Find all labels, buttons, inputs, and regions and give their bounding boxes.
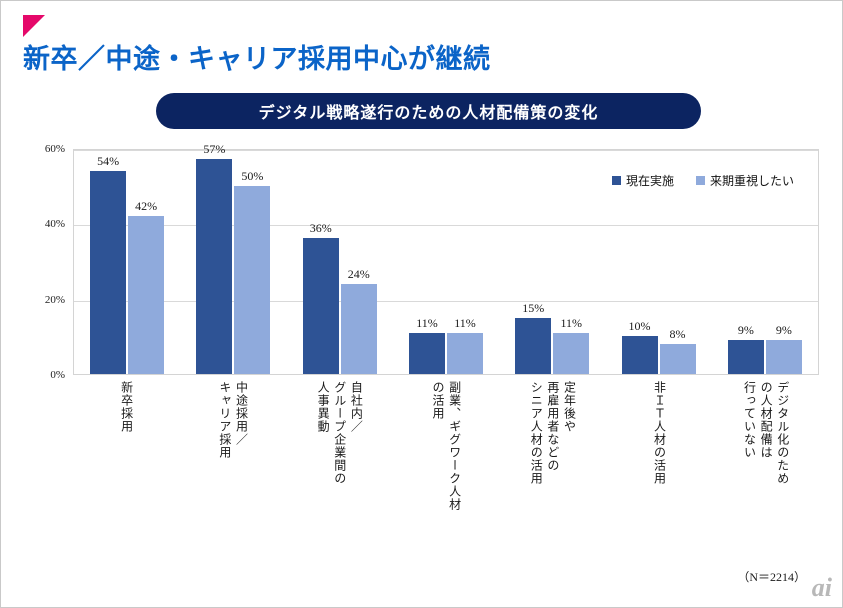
x-axis-label-column: 新卒採用 bbox=[119, 381, 134, 587]
bar[interactable]: 36% bbox=[303, 238, 339, 374]
x-axis-label-group: 自社内／グループ企業間の人事異動 bbox=[286, 377, 393, 587]
x-axis-label-column: 非ＩＴ人材の活用 bbox=[652, 381, 667, 587]
bar-value-label: 15% bbox=[522, 301, 544, 316]
bar[interactable]: 9% bbox=[766, 340, 802, 374]
bar-group: 57%50% bbox=[180, 150, 286, 374]
bar-value-label: 9% bbox=[776, 323, 792, 338]
bar-value-label: 36% bbox=[310, 221, 332, 236]
x-axis-label-column: グループ企業間の bbox=[332, 381, 347, 587]
bar-group: 36%24% bbox=[287, 150, 393, 374]
y-axis-tick: 40% bbox=[45, 218, 65, 230]
legend: 現在実施来期重視したい bbox=[612, 172, 794, 189]
x-axis-label-group: 非ＩＴ人材の活用 bbox=[606, 377, 713, 587]
x-axis-label-column: 人事異動 bbox=[316, 381, 331, 587]
bar-fill bbox=[766, 340, 802, 374]
legend-item: 来期重視したい bbox=[696, 172, 794, 189]
bar-fill bbox=[622, 336, 658, 374]
plot-wrapper: 0%20%40%60% 現在実施来期重視したい 54%42%57%50%36%2… bbox=[29, 149, 819, 375]
legend-label: 来期重視したい bbox=[710, 172, 794, 189]
bar-value-label: 10% bbox=[629, 319, 651, 334]
bar-fill bbox=[660, 344, 696, 374]
bar-fill bbox=[234, 186, 270, 374]
legend-item: 現在実施 bbox=[612, 172, 674, 189]
bar-fill bbox=[196, 159, 232, 374]
legend-label: 現在実施 bbox=[626, 172, 674, 189]
bar-fill bbox=[90, 171, 126, 374]
x-axis-label-group: 新卒採用 bbox=[73, 377, 180, 587]
y-axis-tick: 20% bbox=[45, 294, 65, 306]
bar-value-label: 9% bbox=[738, 323, 754, 338]
bar-fill bbox=[553, 333, 589, 374]
bar-fill bbox=[728, 340, 764, 374]
bar-fill bbox=[303, 238, 339, 374]
bar-fill bbox=[515, 318, 551, 375]
x-axis-label-column: の人材配備は bbox=[758, 381, 773, 587]
ai-logo: ai bbox=[812, 575, 832, 601]
chart: 0%20%40%60% 現在実施来期重視したい 54%42%57%50%36%2… bbox=[29, 149, 819, 589]
bar-value-label: 54% bbox=[97, 154, 119, 169]
x-axis-label-group: 定年後や再雇用者などのシニア人材の活用 bbox=[499, 377, 606, 587]
legend-swatch-icon bbox=[696, 176, 705, 185]
y-axis-tick: 60% bbox=[45, 143, 65, 155]
bar-fill bbox=[128, 216, 164, 374]
x-axis-label-column: キャリア採用 bbox=[217, 381, 232, 587]
bar-value-label: 11% bbox=[454, 316, 476, 331]
x-axis-label-column: 中途採用／ bbox=[234, 381, 249, 587]
bar-value-label: 11% bbox=[416, 316, 438, 331]
bar[interactable]: 50% bbox=[234, 186, 270, 374]
x-axis-label-group: 副業、ギグワーク人材の活用 bbox=[393, 377, 500, 587]
bar-group: 54%42% bbox=[74, 150, 180, 374]
x-axis-label-column: 行っていない bbox=[742, 381, 757, 587]
y-axis: 0%20%40%60% bbox=[29, 149, 69, 375]
bar[interactable]: 9% bbox=[728, 340, 764, 374]
bar[interactable]: 57% bbox=[196, 159, 232, 374]
bar[interactable]: 10% bbox=[622, 336, 658, 374]
bar-fill bbox=[341, 284, 377, 374]
corner-marker-icon bbox=[23, 15, 45, 37]
bar-value-label: 42% bbox=[135, 199, 157, 214]
bar[interactable]: 42% bbox=[128, 216, 164, 374]
bar-fill bbox=[409, 333, 445, 374]
x-axis-label-column: シニア人材の活用 bbox=[529, 381, 544, 587]
bar-value-label: 57% bbox=[203, 142, 225, 157]
bar[interactable]: 11% bbox=[409, 333, 445, 374]
bar[interactable]: 11% bbox=[447, 333, 483, 374]
x-axis-label-group: 中途採用／キャリア採用 bbox=[180, 377, 287, 587]
chart-banner-title: デジタル戦略遂行のための人材配備策の変化 bbox=[156, 93, 701, 129]
bar-value-label: 24% bbox=[348, 267, 370, 282]
sample-size-note: （N＝2214） bbox=[737, 568, 806, 585]
x-axis-labels: 新卒採用中途採用／キャリア採用自社内／グループ企業間の人事異動副業、ギグワーク人… bbox=[73, 377, 819, 587]
x-axis-label-column: 再雇用者などの bbox=[545, 381, 560, 587]
bar-value-label: 8% bbox=[670, 327, 686, 342]
bar-value-label: 11% bbox=[560, 316, 582, 331]
bar-group: 11%11% bbox=[393, 150, 499, 374]
bar[interactable]: 11% bbox=[553, 333, 589, 374]
slide: 新卒／中途・キャリア採用中心が継続 デジタル戦略遂行のための人材配備策の変化 0… bbox=[0, 0, 843, 608]
x-axis-label-column: 定年後や bbox=[562, 381, 577, 587]
x-axis-label-column: デジタル化のため bbox=[775, 381, 790, 587]
bar-fill bbox=[447, 333, 483, 374]
x-axis-label-column: 自社内／ bbox=[349, 381, 364, 587]
bar[interactable]: 15% bbox=[515, 318, 551, 375]
legend-swatch-icon bbox=[612, 176, 621, 185]
x-axis-label-group: デジタル化のための人材配備は行っていない bbox=[712, 377, 819, 587]
bar-value-label: 50% bbox=[241, 169, 263, 184]
bar[interactable]: 54% bbox=[90, 171, 126, 374]
y-axis-tick: 0% bbox=[50, 369, 65, 381]
x-axis-label-column: 副業、ギグワーク人材 bbox=[447, 381, 462, 587]
bar[interactable]: 24% bbox=[341, 284, 377, 374]
page-title: 新卒／中途・キャリア採用中心が継続 bbox=[23, 37, 491, 76]
plot-area: 現在実施来期重視したい 54%42%57%50%36%24%11%11%15%1… bbox=[73, 149, 819, 375]
x-axis-label-column: の活用 bbox=[430, 381, 445, 587]
bar[interactable]: 8% bbox=[660, 344, 696, 374]
bar-group: 15%11% bbox=[499, 150, 605, 374]
